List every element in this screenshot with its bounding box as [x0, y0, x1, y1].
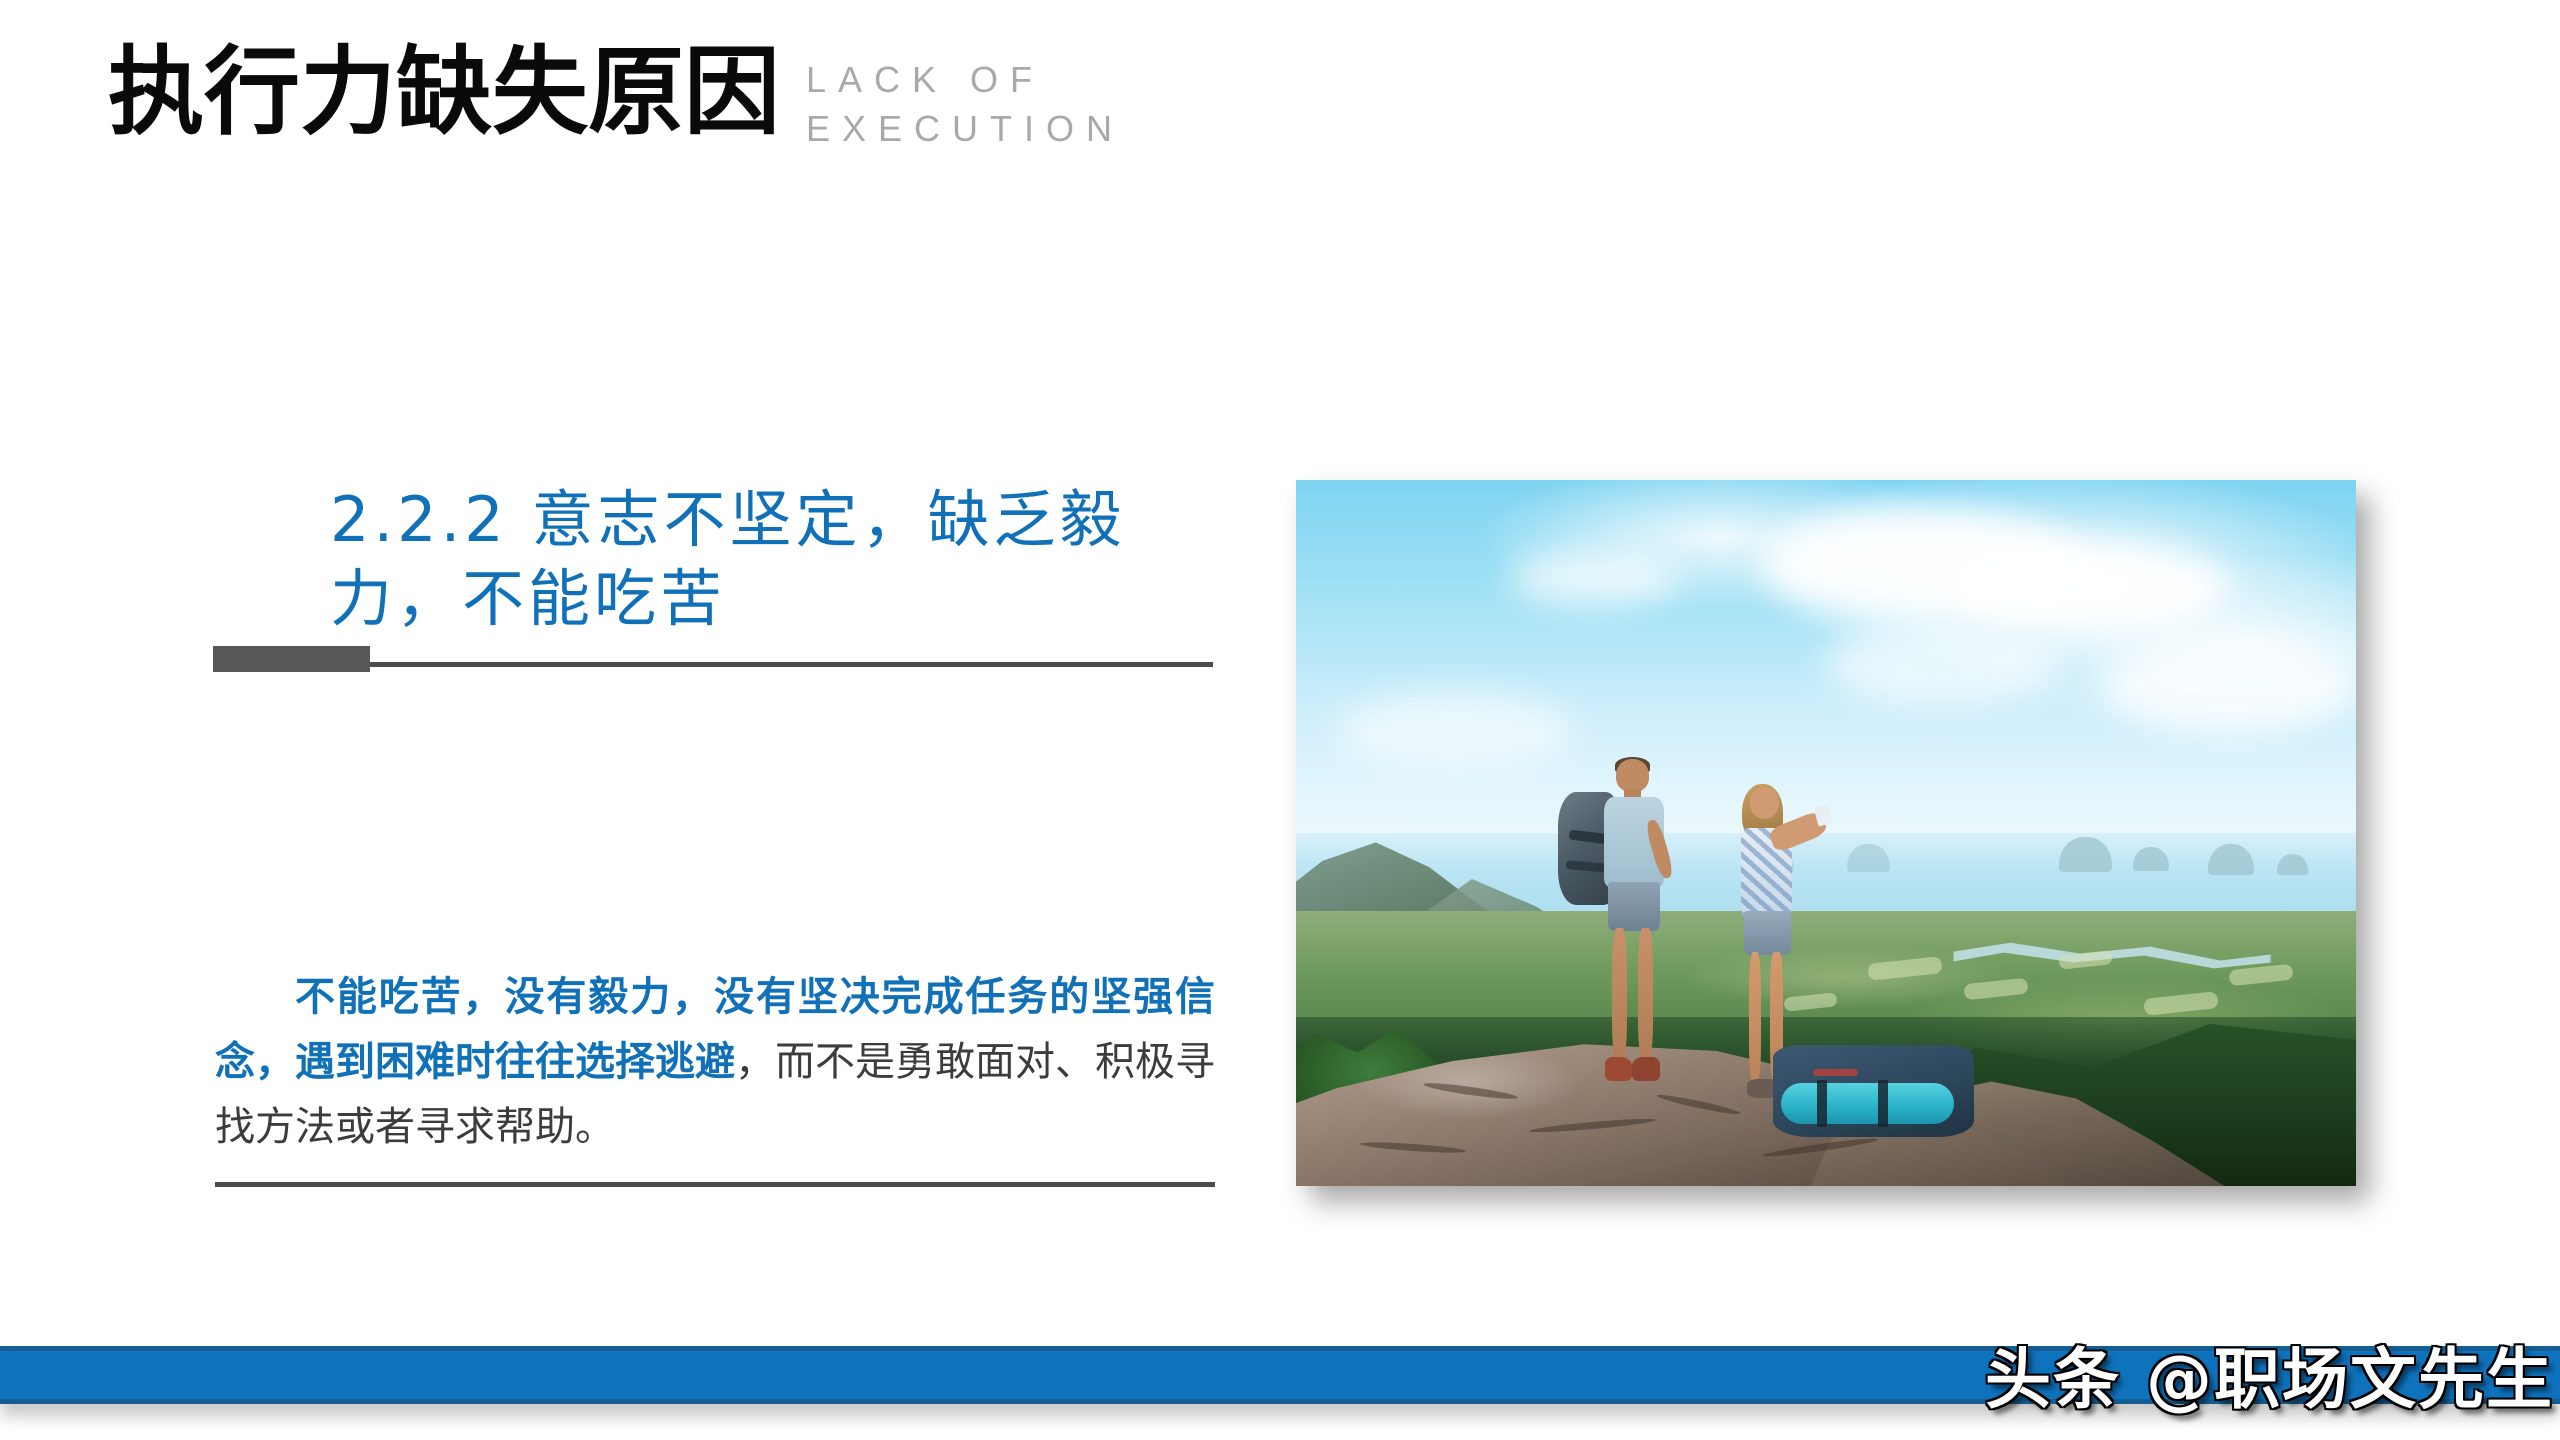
subtitle-line-1: LACK OF — [806, 56, 1124, 105]
body-paragraph: 不能吃苦，没有毅力，没有坚决完成任务的坚强信念，遇到困难时往往选择逃避，而不是勇… — [215, 965, 1215, 1159]
cloud-shape — [1826, 621, 2059, 706]
shorts — [1744, 911, 1791, 955]
subtitle-line-2: EXECUTION — [806, 105, 1124, 154]
photo-artwork — [1296, 480, 2356, 1186]
cloud-shape — [2102, 635, 2356, 734]
cloud-shape — [1338, 692, 1571, 770]
bag-detail — [1813, 1069, 1857, 1076]
page-title: 执行力缺失原因 — [108, 42, 780, 143]
watermark-text: 头条 @职场文先生 — [1985, 1326, 2554, 1422]
section-heading: 2.2.2 意志不坚定，缺乏毅力，不能吃苦 — [330, 480, 1230, 639]
duffel-bag — [1773, 1045, 1974, 1137]
heading-accent-block — [213, 646, 370, 672]
leg — [1749, 952, 1762, 1082]
page-subtitle-english: LACK OF EXECUTION — [806, 56, 1124, 153]
summit-hikers-photo — [1296, 480, 2356, 1186]
sandal — [1632, 1057, 1660, 1080]
head — [1750, 787, 1779, 819]
slide-header: 执行力缺失原因 LACK OF EXECUTION — [108, 42, 1124, 153]
heading-divider-rule — [370, 662, 1213, 667]
cloud-shape — [1508, 551, 1678, 607]
hiker-man-figure — [1566, 759, 1704, 1091]
shorts — [1608, 882, 1660, 932]
cloud-shape — [1953, 544, 2229, 636]
slide-canvas: 执行力缺失原因 LACK OF EXECUTION 2.2.2 意志不坚定，缺乏… — [0, 0, 2560, 1440]
bag-strap — [1878, 1080, 1888, 1128]
bag-strap — [1817, 1080, 1827, 1128]
body-divider-rule — [215, 1182, 1215, 1187]
leg — [1638, 928, 1653, 1061]
sleeping-mat-roll — [1781, 1083, 1954, 1123]
leg — [1612, 928, 1627, 1061]
sandal — [1605, 1057, 1633, 1080]
camera-phone — [1814, 805, 1833, 827]
head — [1616, 759, 1649, 792]
